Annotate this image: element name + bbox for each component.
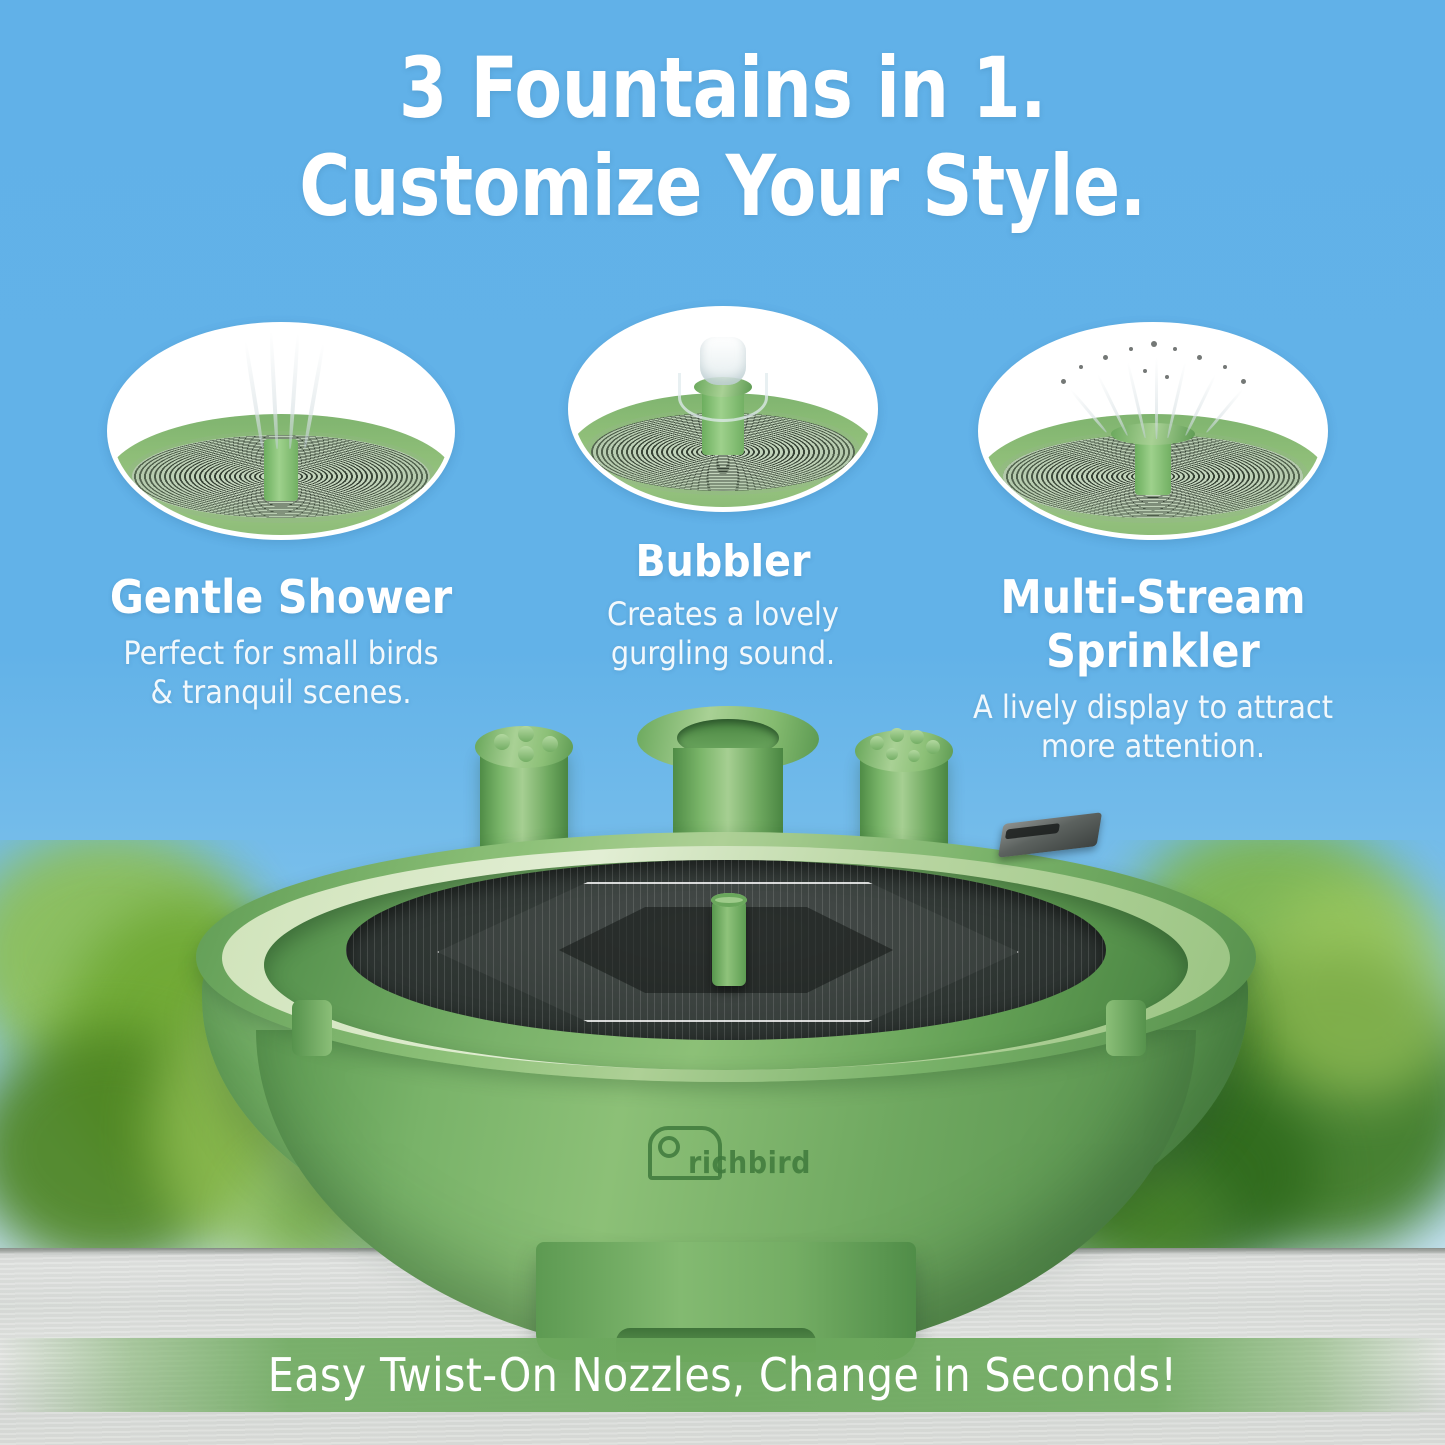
bottom-banner-text: Easy Twist-On Nozzles, Change in Seconds… [0, 1341, 1445, 1409]
feature-title: Gentle Shower [96, 570, 466, 624]
feature-desc-line-1: Perfect for small birds [96, 634, 466, 673]
brand-logo: richbird [640, 1120, 830, 1192]
bowl-tab-left [292, 1000, 332, 1056]
headline-line-2: Customize Your Style. [58, 144, 1387, 230]
headline-line-1: 3 Fountains in 1. [58, 46, 1387, 132]
shower-nozzle-icon [107, 322, 455, 540]
pump-outlet-stub [712, 900, 746, 986]
marketing-image: 3 Fountains in 1. Customize Your Style. … [0, 0, 1445, 1445]
product-image [196, 700, 1256, 1360]
bubbler-nozzle-icon [568, 306, 878, 512]
feature-title: Multi-Stream Sprinkler [938, 570, 1368, 678]
feature-title: Bubbler [568, 536, 878, 587]
feature-desc-line-2: gurgling sound. [568, 634, 878, 673]
sprinkler-nozzle-icon [978, 322, 1328, 540]
mounting-clip-icon [998, 812, 1102, 857]
bowl-tab-right [1106, 1000, 1146, 1056]
feature-bubbler: Bubbler Creates a lovely gurgling sound. [568, 306, 878, 673]
page-title: 3 Fountains in 1. Customize Your Style. [0, 46, 1445, 229]
feature-desc-line-1: Creates a lovely [568, 595, 878, 634]
brand-name: richbird [688, 1146, 811, 1181]
feature-gentle-shower: Gentle Shower Perfect for small birds & … [96, 322, 466, 712]
